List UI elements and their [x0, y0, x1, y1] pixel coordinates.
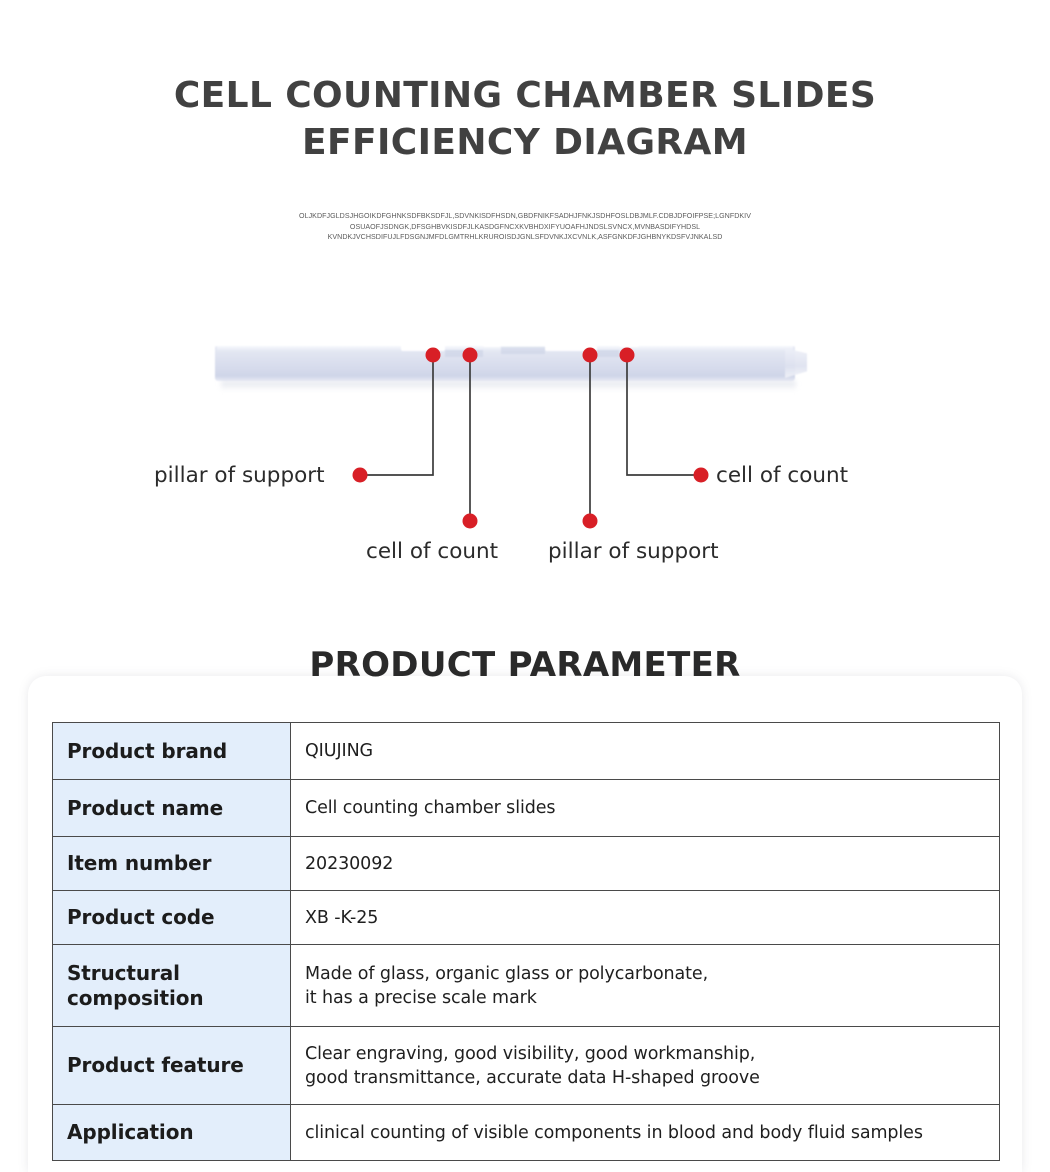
table-row: Product code XB -K-25 — [53, 891, 1000, 945]
marker-dot-slide-2 — [463, 348, 478, 363]
table-row: Product feature Clear engraving, good vi… — [53, 1027, 1000, 1105]
callout-label-bottom-cell: cell of count — [366, 539, 498, 565]
param-key: Product name — [53, 780, 291, 837]
product-diagram — [0, 300, 1050, 600]
param-value: QIUJING — [291, 723, 1000, 780]
callout-label-bottom-pillar: pillar of support — [548, 539, 719, 565]
leader-line-left-pillar — [365, 360, 433, 475]
marker-dot-label-bottom-2 — [583, 514, 598, 529]
param-value-line: Cell counting chamber slides — [305, 796, 985, 820]
param-value: Clear engraving, good visibility, good w… — [291, 1027, 1000, 1105]
product-parameter-table: Product brand QIUJING Product name Cell … — [52, 722, 1000, 1161]
param-key: Product feature — [53, 1027, 291, 1105]
table-row: Structural composition Made of glass, or… — [53, 945, 1000, 1027]
table-row: Application clinical counting of visible… — [53, 1105, 1000, 1161]
callout-label-right-cell: cell of count — [716, 463, 848, 489]
param-value-line: 20230092 — [305, 852, 985, 876]
marker-dot-label-left — [353, 468, 368, 483]
product-parameter-title: PRODUCT PARAMETER — [0, 645, 1050, 685]
table-row: Product brand QIUJING — [53, 723, 1000, 780]
param-value-line: good transmittance, accurate data H-shap… — [305, 1066, 985, 1090]
page-title: CELL COUNTING CHAMBER SLIDES EFFICIENCY … — [0, 72, 1050, 166]
param-value-line: QIUJING — [305, 739, 985, 763]
product-detail-page: CELL COUNTING CHAMBER SLIDES EFFICIENCY … — [0, 0, 1050, 1172]
placeholder-paragraph-line-3: KVNDKJVCHSDIFUJLFDSGNJMFDLGMTRHLKRUROISD… — [0, 232, 1050, 243]
param-key: Product code — [53, 891, 291, 945]
param-value: 20230092 — [291, 837, 1000, 891]
marker-dot-slide-1 — [426, 348, 441, 363]
param-key: Structural composition — [53, 945, 291, 1027]
param-value-line: XB -K-25 — [305, 906, 985, 930]
param-value-line: Made of glass, organic glass or polycarb… — [305, 962, 985, 986]
param-key: Product brand — [53, 723, 291, 780]
param-value-line: Clear engraving, good visibility, good w… — [305, 1042, 985, 1066]
param-key: Application — [53, 1105, 291, 1161]
param-value-line: it has a precise scale mark — [305, 986, 985, 1010]
page-title-line-2: EFFICIENCY DIAGRAM — [0, 119, 1050, 166]
param-value: clinical counting of visible components … — [291, 1105, 1000, 1161]
placeholder-paragraph-line-2: OSUAOFJSDNGK,DFSGHBVKISDFJLKASDGFNCXKVBH… — [0, 222, 1050, 233]
placeholder-paragraph: OLJKDFJGLDSJHGOIKDFGHNKSDFBKSDFJL,SDVNKI… — [0, 211, 1050, 243]
placeholder-paragraph-line-1: OLJKDFJGLDSJHGOIKDFGHNKSDFBKSDFJL,SDVNKI… — [0, 211, 1050, 222]
table-row: Item number 20230092 — [53, 837, 1000, 891]
callout-lines — [0, 300, 1050, 600]
param-value-line: clinical counting of visible components … — [305, 1121, 985, 1145]
param-value: XB -K-25 — [291, 891, 1000, 945]
marker-dot-slide-4 — [620, 348, 635, 363]
table-row: Product name Cell counting chamber slide… — [53, 780, 1000, 837]
param-key: Item number — [53, 837, 291, 891]
param-value: Cell counting chamber slides — [291, 780, 1000, 837]
page-title-line-1: CELL COUNTING CHAMBER SLIDES — [0, 72, 1050, 119]
marker-dot-slide-3 — [583, 348, 598, 363]
param-value: Made of glass, organic glass or polycarb… — [291, 945, 1000, 1027]
callout-label-left-pillar: pillar of support — [154, 463, 325, 489]
marker-dot-label-bottom-1 — [463, 514, 478, 529]
leader-line-right-cell — [627, 360, 697, 475]
marker-dot-label-right — [694, 468, 709, 483]
